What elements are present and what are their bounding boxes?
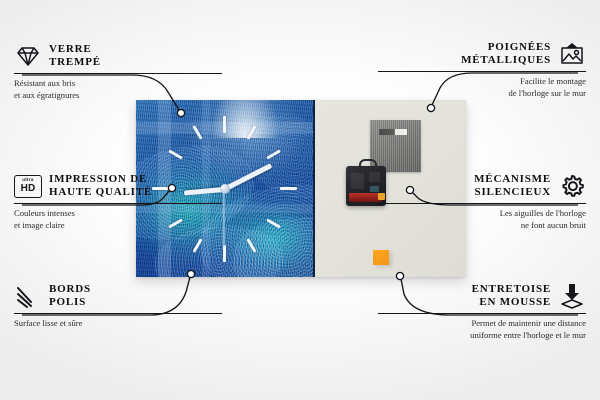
polished-edges-icon	[14, 282, 42, 310]
feature-rule	[378, 71, 586, 72]
feature-description: Les aiguilles de l'horlogene font aucun …	[378, 207, 586, 231]
infographic-canvas: VERRETREMPÉ Résistant aux briset aux égr…	[0, 0, 600, 400]
feature-title: VERRETREMPÉ	[49, 43, 101, 70]
feature-head: BORDSPOLIS	[14, 282, 222, 310]
feature-rule	[378, 313, 586, 314]
feature-head: MÉCANISMESILENCIEUX	[378, 172, 586, 200]
gear-icon	[558, 172, 586, 200]
mechanism-detail	[351, 173, 364, 189]
feature-description: Couleurs intenseset image claire	[14, 207, 222, 231]
feature-head: VERRETREMPÉ	[14, 42, 222, 70]
feature-head: ENTRETOISEEN MOUSSE	[378, 282, 586, 310]
feature-title: IMPRESSION DEHAUTE QUALITÉ	[49, 173, 152, 200]
foam-spacer-icon	[558, 282, 586, 310]
feature-description: Surface lisse et sûre	[14, 317, 222, 329]
feature-rule	[378, 203, 586, 204]
feature-poignees-metalliques: POIGNÉESMÉTALLIQUES Facilite le montaged…	[378, 40, 586, 99]
feature-head: ultra HD IMPRESSION DEHAUTE QUALITÉ	[14, 172, 222, 200]
feature-entretoise-en-mousse: ENTRETOISEEN MOUSSE Permet de maintenir …	[378, 282, 586, 341]
glare-highlight	[210, 100, 280, 138]
hour-tick	[280, 187, 297, 190]
ultra-hd-icon: ultra HD	[14, 172, 42, 200]
feature-verre-trempe: VERRETREMPÉ Résistant aux briset aux égr…	[14, 42, 222, 101]
hour-tick	[223, 116, 226, 133]
feature-impression-haute-qualite: ultra HD IMPRESSION DEHAUTE QUALITÉ Coul…	[14, 172, 222, 231]
second-hand	[223, 189, 225, 247]
feature-title: POIGNÉESMÉTALLIQUES	[461, 41, 551, 68]
hd-main-label: HD	[21, 184, 36, 194]
hanger-keyhole-slot	[379, 129, 407, 135]
feature-rule	[14, 203, 222, 204]
feature-rule	[14, 73, 222, 74]
feature-description: Permet de maintenir une distanceuniforme…	[378, 317, 586, 341]
feature-bords-polis: BORDSPOLIS Surface lisse et sûre	[14, 282, 222, 329]
feature-mecanisme-silencieux: MÉCANISMESILENCIEUX Les aiguilles de l'h…	[378, 172, 586, 231]
feature-description: Facilite le montagede l'horloge sur le m…	[378, 75, 586, 99]
feature-title: MÉCANISMESILENCIEUX	[474, 173, 551, 200]
feature-description: Résistant aux briset aux égratignures	[14, 77, 222, 101]
diamond-icon	[14, 42, 42, 70]
feature-title: ENTRETOISEEN MOUSSE	[472, 283, 551, 310]
hd-badge: ultra HD	[14, 175, 42, 198]
foam-spacer	[373, 250, 389, 265]
feature-title: BORDSPOLIS	[49, 283, 91, 310]
hour-tick	[223, 245, 226, 262]
metal-hanger-plate	[370, 120, 421, 172]
mechanism-hanging-loop	[359, 159, 377, 170]
picture-hanger-icon	[558, 40, 586, 68]
feature-rule	[14, 313, 222, 314]
feature-head: POIGNÉESMÉTALLIQUES	[378, 40, 586, 68]
